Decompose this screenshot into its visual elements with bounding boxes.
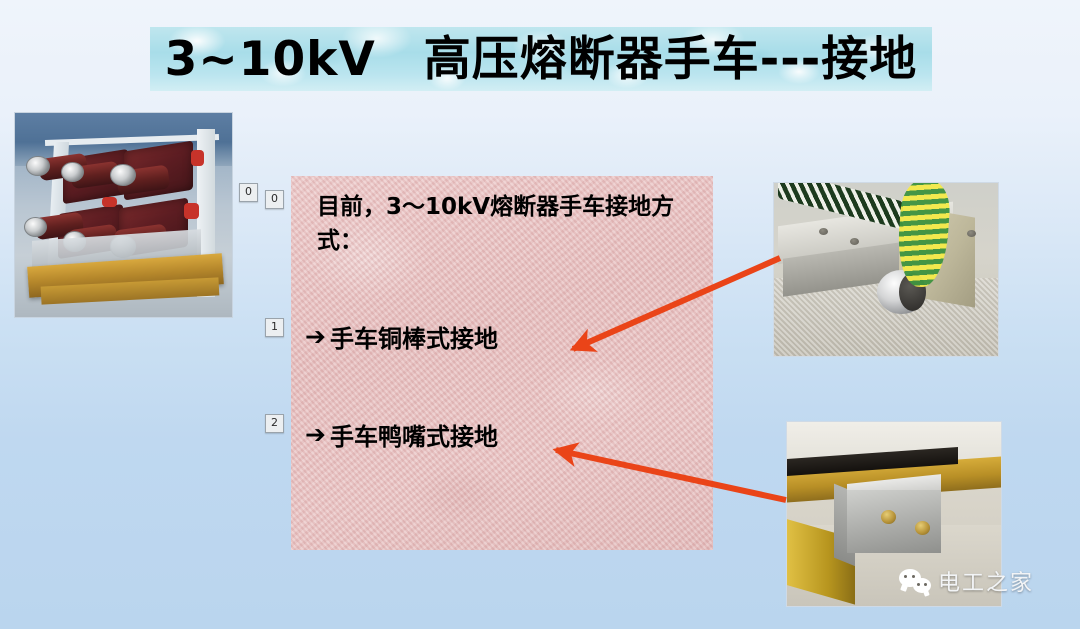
watermark: 电工之家 — [899, 565, 1034, 597]
red-connector — [102, 197, 117, 207]
slide-canvas: 3~10kV 高压熔断器手车---接地 目前，3～10kV熔断器手车接地方式： — [0, 0, 1080, 629]
bolt-hole — [967, 230, 976, 237]
red-connector — [184, 203, 199, 219]
bolt-hole — [819, 228, 828, 235]
photo-copper-rod-grounding — [773, 182, 999, 357]
bullet-duckbill-grounding: ➔ 手车鸭嘴式接地 — [305, 417, 498, 452]
animation-marker-2[interactable]: 2 — [265, 414, 284, 433]
lead-text: 目前，3～10kV熔断器手车接地方式： — [317, 190, 697, 258]
arrow-bullet-icon: ➔ — [305, 422, 326, 447]
watermark-text: 电工之家 — [938, 565, 1034, 597]
animation-marker-0b[interactable]: 0 — [265, 190, 284, 209]
animation-marker-1[interactable]: 1 — [265, 318, 284, 337]
red-connector — [191, 150, 204, 166]
content-panel: 目前，3～10kV熔断器手车接地方式： ➔ 手车铜棒式接地 ➔ 手车鸭嘴式接地 — [291, 176, 713, 550]
wechat-icon — [899, 569, 931, 593]
bullet-label: 手车铜棒式接地 — [330, 319, 498, 354]
arrow-bullet-icon: ➔ — [305, 324, 326, 349]
page-title: 3~10kV 高压熔断器手车---接地 — [165, 36, 918, 83]
bullet-copper-rod-grounding: ➔ 手车铜棒式接地 — [305, 319, 498, 354]
animation-marker-0a[interactable]: 0 — [239, 183, 258, 202]
photo-switchgear-trolley — [14, 112, 233, 318]
slide-title-banner: 3~10kV 高压熔断器手车---接地 — [150, 27, 932, 91]
bullet-label: 手车鸭嘴式接地 — [330, 417, 498, 452]
contact-cap — [26, 156, 50, 176]
